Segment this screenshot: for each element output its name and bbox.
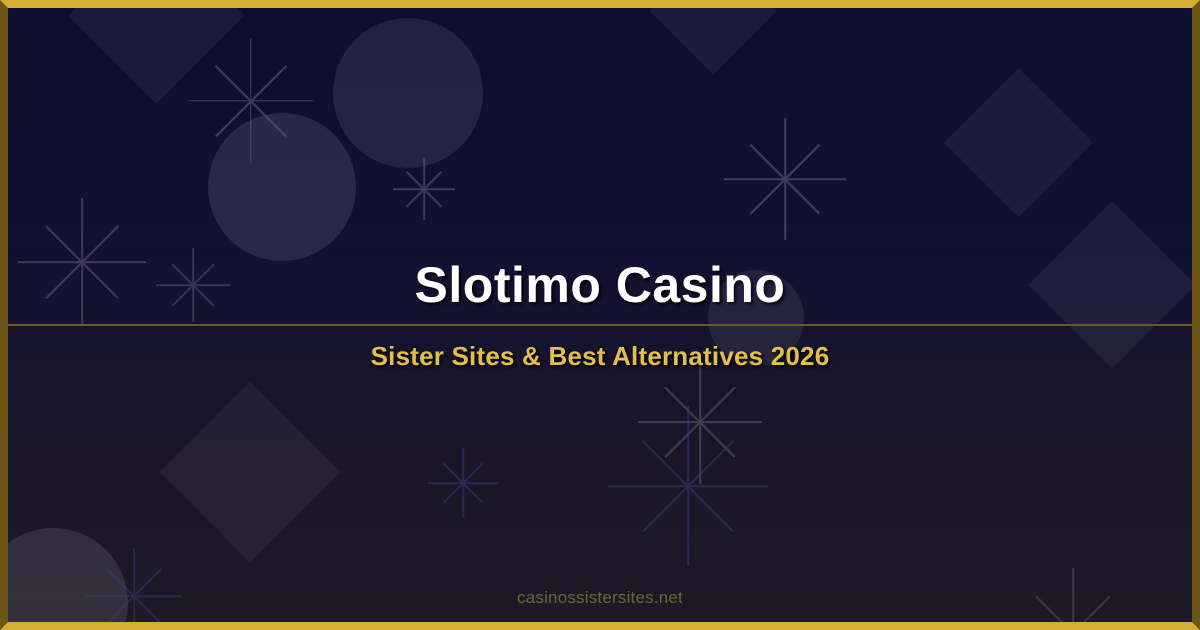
- banner-content: Slotimo Casino Sister Sites & Best Alter…: [8, 8, 1192, 622]
- site-watermark: casinossistersites.net: [8, 588, 1192, 608]
- page-subtitle: Sister Sites & Best Alternatives 2026: [371, 341, 830, 372]
- page-title: Slotimo Casino: [415, 258, 786, 313]
- banner-container: Slotimo Casino Sister Sites & Best Alter…: [0, 0, 1200, 630]
